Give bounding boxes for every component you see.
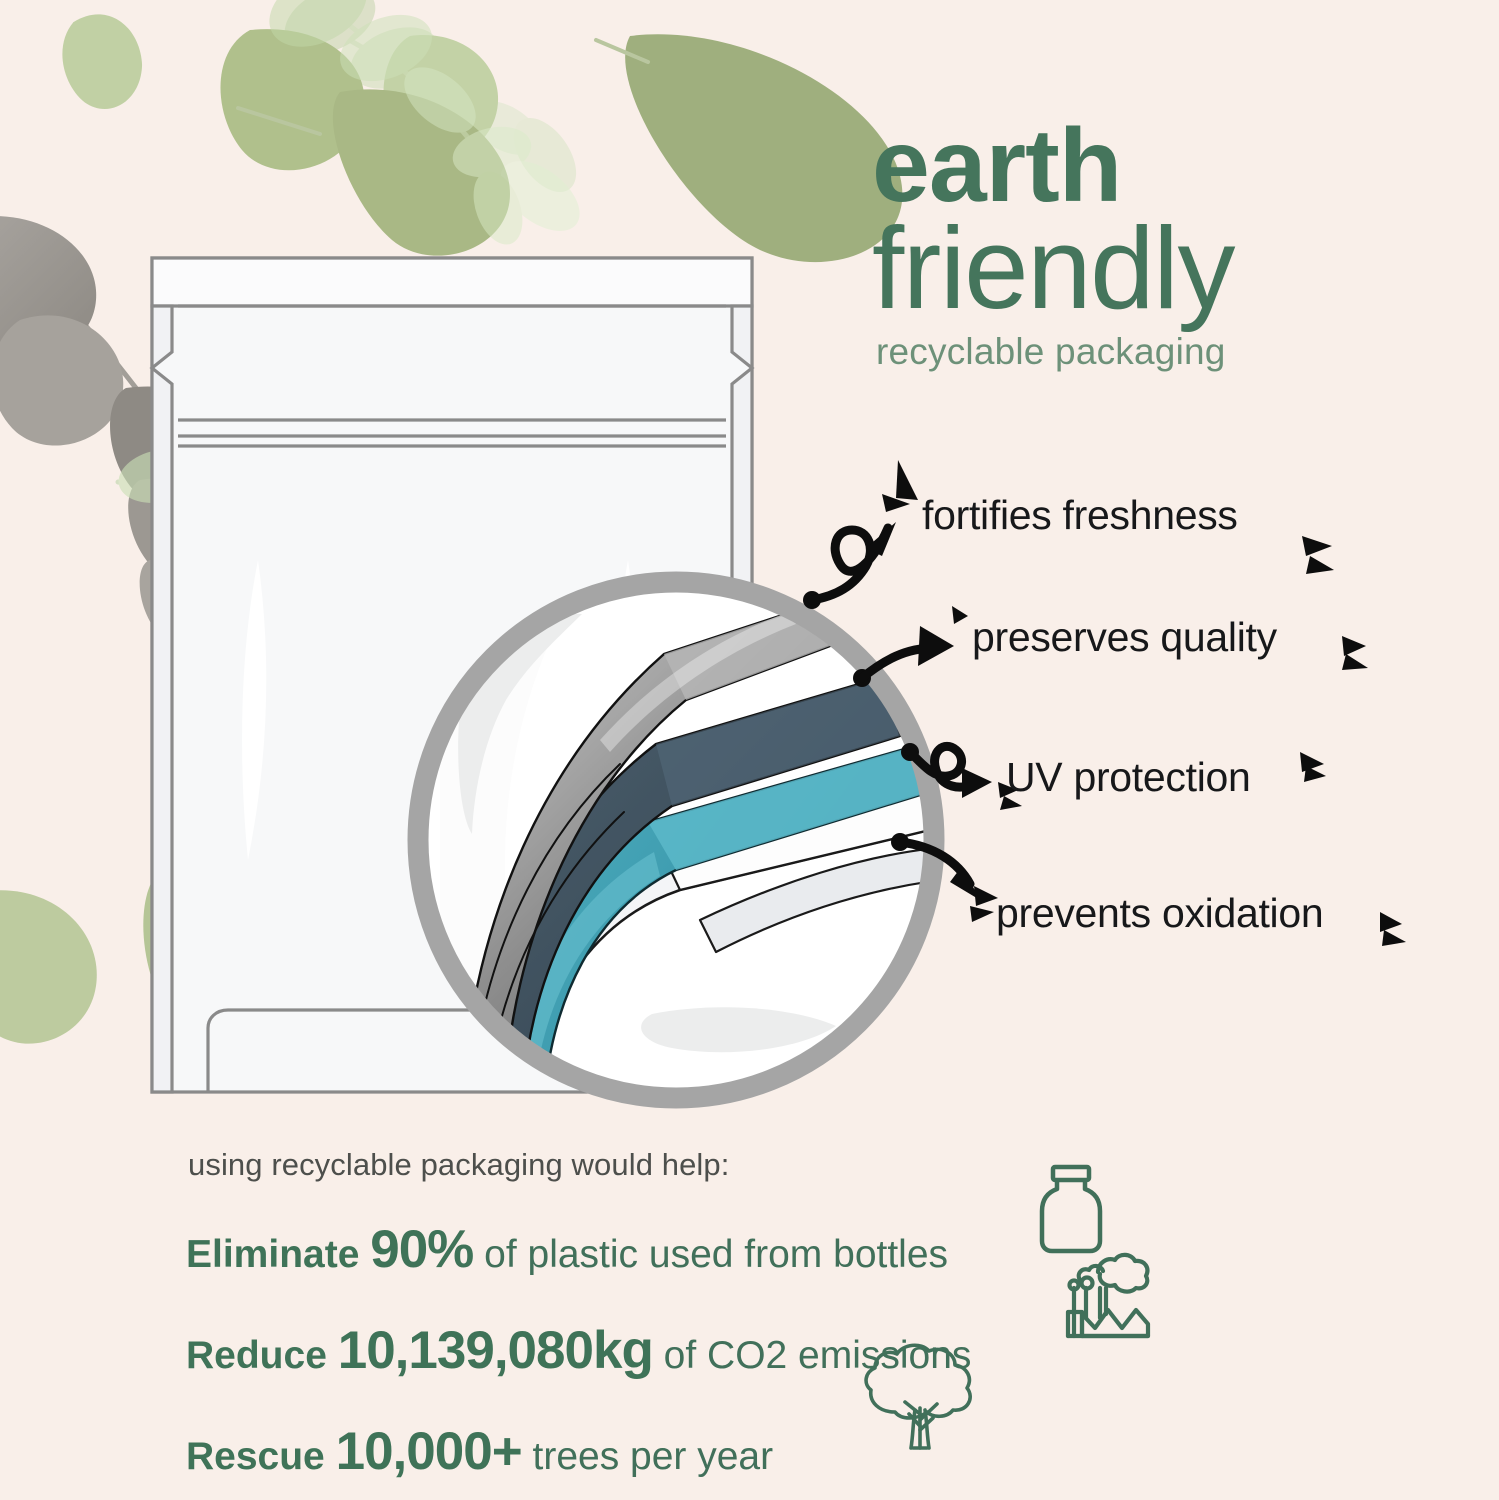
stat-value: 90%	[370, 1220, 473, 1279]
stats-intro-text: using recyclable packaging would help:	[188, 1147, 1086, 1183]
stat-tail: of CO2 emissions	[653, 1334, 972, 1377]
stat-verb: Rescue	[186, 1435, 336, 1478]
feature-label-uv-protection: UV protection	[1006, 754, 1251, 801]
stat-tail: trees per year	[522, 1435, 773, 1478]
layer-silver-barrier	[462, 598, 846, 1098]
feature-label-prevents-oxidation: prevents oxidation	[996, 890, 1323, 937]
feature-label-preserves-quality: preserves quality	[972, 614, 1277, 661]
arrow-uv-protection	[901, 743, 992, 798]
grey-branch-left	[0, 216, 254, 728]
heading-subtitle: recyclable packaging	[876, 331, 1432, 373]
stat-row-rescue-trees: Rescue 10,000+ trees per year	[186, 1425, 1086, 1478]
stat-row-reduce-co2: Reduce 10,139,080kg of CO2 emissions	[186, 1324, 1086, 1377]
leaf-cluster-lower-left	[0, 865, 301, 1044]
pouch-bottom-gusset	[208, 1010, 700, 1092]
stat-verb: Reduce	[186, 1334, 338, 1377]
stat-value: 10,139,080kg	[338, 1321, 653, 1380]
earth-friendly-infographic: earth friendly recyclable packaging fort…	[0, 0, 1499, 1500]
mint-sprig-left	[114, 432, 450, 542]
arrow-fortifies-freshness	[803, 522, 896, 609]
eucalyptus-sprig-top-right	[256, 0, 592, 251]
heading-block: earth friendly recyclable packaging	[872, 118, 1432, 373]
stat-value: 10,000+	[336, 1422, 522, 1481]
title-line-friendly: friendly	[872, 215, 1432, 322]
pouch-highlights	[242, 560, 637, 860]
stat-row-eliminate-plastic: Eliminate 90% of plastic used from bottl…	[186, 1223, 1086, 1276]
magnifier-lens	[408, 572, 944, 1108]
arrow-preserves-quality	[853, 626, 954, 687]
stat-verb: Eliminate	[186, 1233, 370, 1276]
leaf-cluster-top-left	[51, 4, 903, 262]
stat-tail: of plastic used from bottles	[473, 1233, 948, 1276]
title-line-earth: earth	[872, 118, 1432, 215]
layer-slate-core	[478, 676, 900, 1100]
arrow-prevents-oxidation	[891, 833, 980, 900]
stand-up-pouch	[152, 258, 752, 1092]
stats-block: using recyclable packaging would help: E…	[186, 1147, 1086, 1478]
layer-teal-uv	[492, 744, 930, 1100]
feature-label-fortifies-freshness: fortifies freshness	[922, 492, 1238, 539]
layer-white-liner	[470, 792, 940, 1086]
connector-arrows	[803, 522, 992, 900]
eucalyptus-sprig-top	[274, 0, 589, 203]
